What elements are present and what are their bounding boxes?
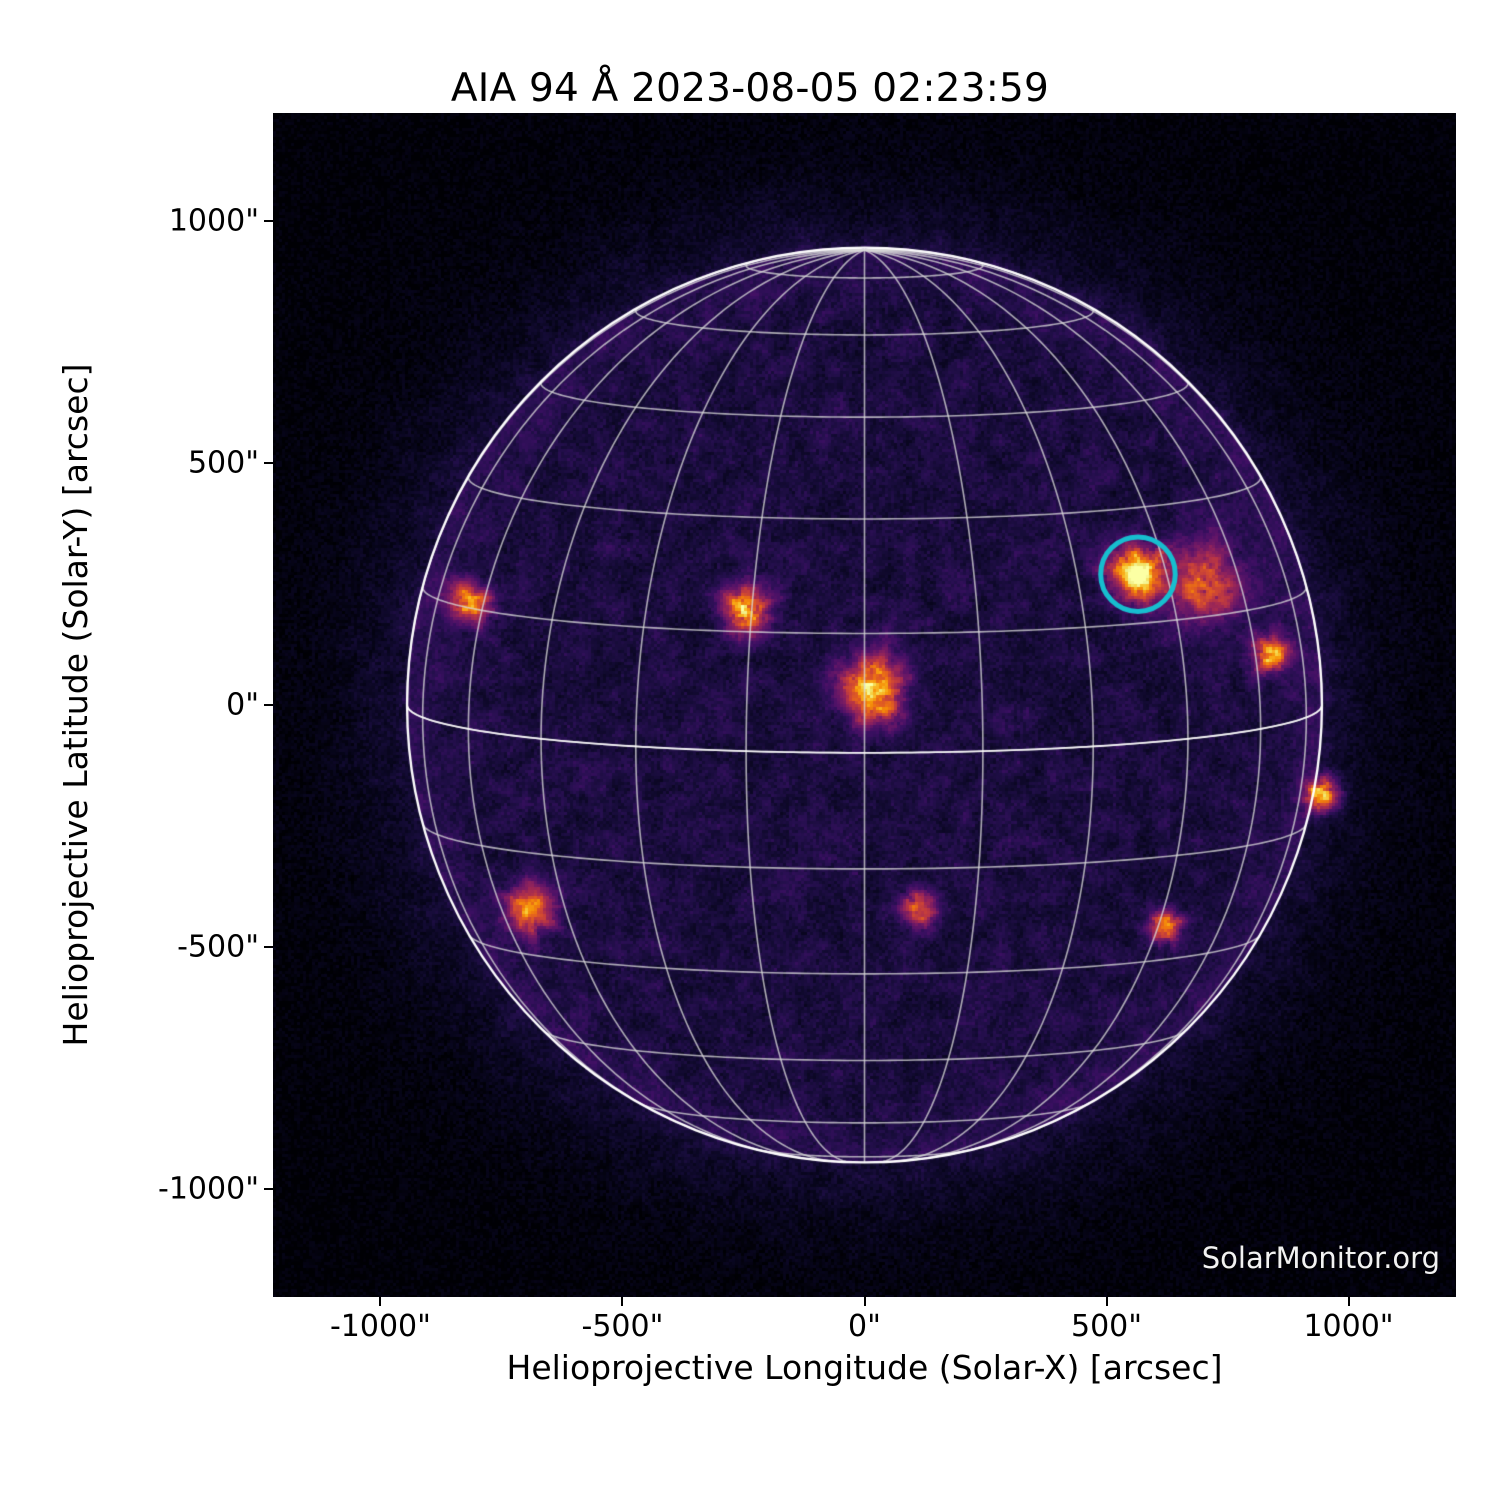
y-tick-label: 0" bbox=[226, 688, 259, 723]
y-tick-label: -500" bbox=[177, 930, 259, 965]
y-axis-label: Helioprojective Latitude (Solar-Y) [arcs… bbox=[56, 364, 95, 1047]
solar-disk-image bbox=[273, 113, 1456, 1297]
x-tick-label: 500" bbox=[1071, 1309, 1142, 1344]
y-tick-label: 1000" bbox=[169, 203, 259, 238]
x-tick-label: -1000" bbox=[330, 1309, 431, 1344]
x-tick-mark bbox=[1106, 1297, 1108, 1306]
x-tick-label: 0" bbox=[848, 1309, 881, 1344]
solar-image-figure: AIA 94 Å 2023-08-05 02:23:59 SolarMonito… bbox=[0, 0, 1500, 1500]
x-tick-mark bbox=[379, 1297, 381, 1306]
x-tick-label: 1000" bbox=[1303, 1309, 1393, 1344]
x-tick-mark bbox=[864, 1297, 866, 1306]
plot-area[interactable]: SolarMonitor.org bbox=[273, 113, 1456, 1297]
watermark-label: SolarMonitor.org bbox=[1202, 1241, 1440, 1275]
x-tick-mark bbox=[621, 1297, 623, 1306]
y-tick-mark bbox=[264, 946, 273, 948]
y-tick-mark bbox=[264, 704, 273, 706]
x-tick-label: -500" bbox=[582, 1309, 664, 1344]
y-tick-label: 500" bbox=[188, 445, 259, 480]
x-tick-mark bbox=[1348, 1297, 1350, 1306]
y-tick-mark bbox=[264, 462, 273, 464]
x-axis-label: Helioprojective Longitude (Solar-X) [arc… bbox=[273, 1348, 1456, 1387]
page-title: AIA 94 Å 2023-08-05 02:23:59 bbox=[0, 66, 1500, 111]
y-tick-mark bbox=[264, 220, 273, 222]
y-tick-label: -1000" bbox=[158, 1172, 259, 1207]
y-tick-mark bbox=[264, 1188, 273, 1190]
